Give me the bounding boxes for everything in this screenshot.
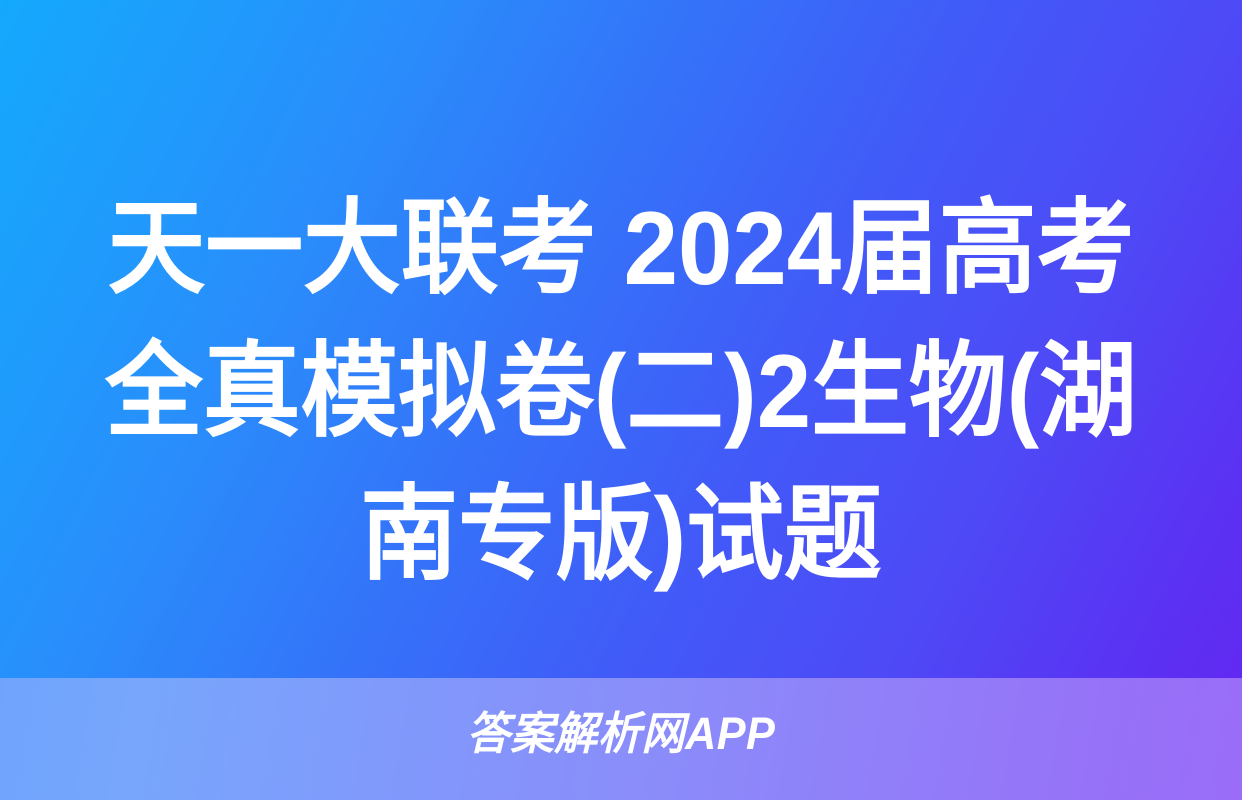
- cover-card: 天一大联考 2024届高考 全真模拟卷(二)2生物(湖 南专版)试题 答案解析网…: [0, 0, 1242, 800]
- page-title: 天一大联考 2024届高考 全真模拟卷(二)2生物(湖 南专版)试题: [37, 178, 1204, 607]
- watermark-app-name: 答案解析网APP: [25, 705, 1217, 763]
- title-line-2: 全真模拟卷(二)2生物(湖: [37, 321, 1204, 464]
- title-line-3: 南专版)试题: [37, 464, 1204, 607]
- title-line-1: 天一大联考 2024届高考: [37, 178, 1204, 321]
